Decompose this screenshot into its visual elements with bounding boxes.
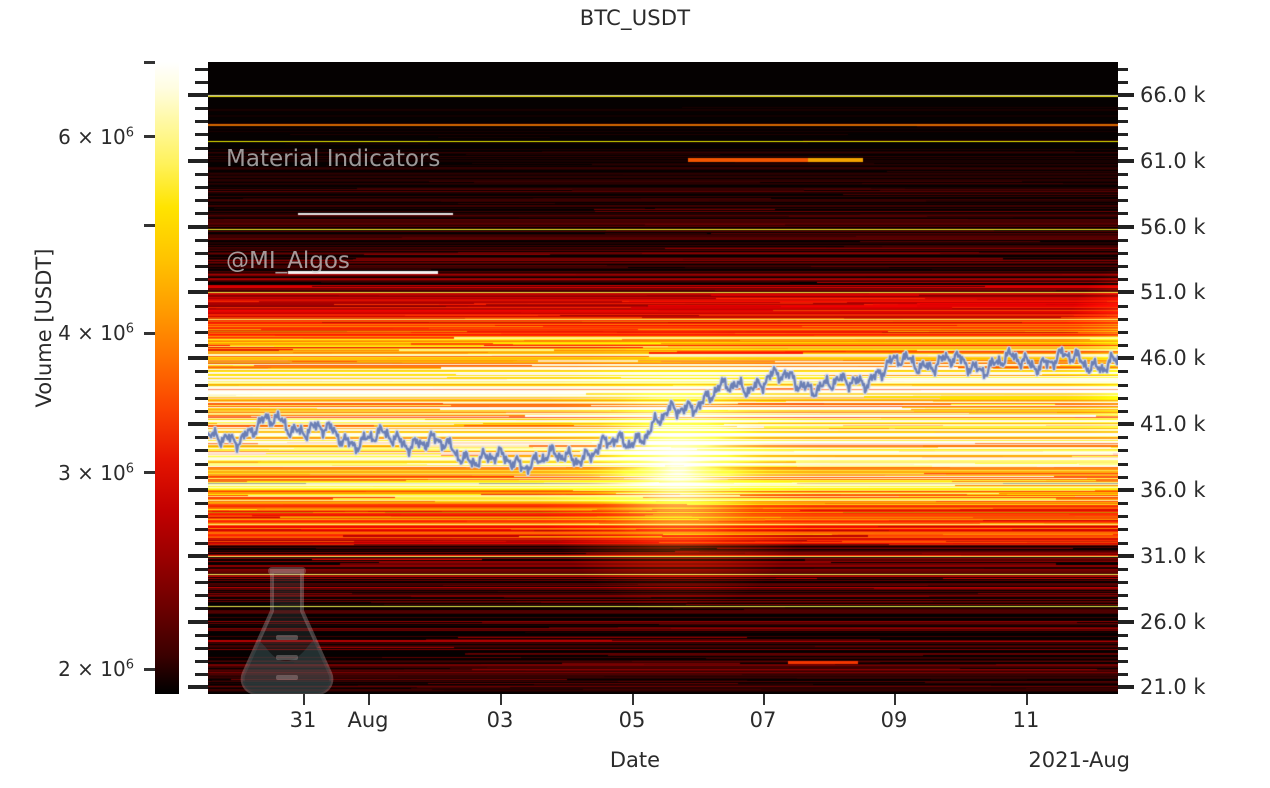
price-tick-minor-left xyxy=(195,647,208,650)
colorbar-ticks xyxy=(141,62,155,694)
price-tick-minor xyxy=(1118,463,1128,466)
volume-tick-label: 6 × 106 xyxy=(58,125,134,149)
price-tick-major-left xyxy=(188,422,208,426)
price-tick-major xyxy=(1118,93,1134,97)
price-tick-minor-left xyxy=(195,318,208,321)
date-tick-label: 09 xyxy=(881,708,908,732)
price-tick-label: 51.0 k xyxy=(1140,280,1206,304)
price-tick-major xyxy=(1118,225,1134,229)
price-tick-minor-left xyxy=(195,515,208,518)
price-tick-minor xyxy=(1118,239,1128,242)
price-tick-minor-left xyxy=(195,68,208,71)
price-tick-minor-left xyxy=(195,568,208,571)
price-tick-minor-left xyxy=(195,81,208,84)
price-tick-minor-left xyxy=(195,542,208,545)
price-tick-minor xyxy=(1118,199,1128,202)
price-tick-minor-left xyxy=(195,212,208,215)
price-tick-minor-left xyxy=(195,265,208,268)
price-tick-minor-left xyxy=(195,331,208,334)
date-tick xyxy=(368,694,370,705)
volume-tick-major xyxy=(144,332,155,335)
price-tick-minor-left xyxy=(195,370,208,373)
volume-tick-minor xyxy=(144,61,155,64)
price-tick-minor-left xyxy=(195,107,208,110)
price-tick-minor xyxy=(1118,107,1128,110)
price-tick-minor xyxy=(1118,515,1128,518)
price-tick-minor xyxy=(1118,120,1128,123)
price-tick-minor xyxy=(1118,384,1128,387)
price-tick-minor xyxy=(1118,147,1128,150)
price-tick-major xyxy=(1118,290,1134,294)
price-tick-minor xyxy=(1118,568,1128,571)
price-tick-major-left xyxy=(188,93,208,97)
date-tick xyxy=(500,694,502,705)
price-tick-minor xyxy=(1118,370,1128,373)
price-tick-minor-left xyxy=(195,673,208,676)
price-tick-major xyxy=(1118,159,1134,163)
price-tick-minor xyxy=(1118,331,1128,334)
price-tick-label: 31.0 k xyxy=(1140,544,1206,568)
price-tick-label: 26.0 k xyxy=(1140,610,1206,634)
price-tick-minor-left xyxy=(195,199,208,202)
price-tick-minor xyxy=(1118,68,1128,71)
price-axis-left-ticks xyxy=(186,62,208,694)
volume-tick-label: 4 × 106 xyxy=(58,321,134,345)
price-tick-minor xyxy=(1118,133,1128,136)
price-tick-minor-left xyxy=(195,607,208,610)
price-tick-minor-left xyxy=(195,305,208,308)
volume-tick-minor xyxy=(144,224,155,227)
volume-colorbar xyxy=(155,62,179,694)
price-tick-minor xyxy=(1118,647,1128,650)
price-tick-minor xyxy=(1118,212,1128,215)
price-tick-minor xyxy=(1118,252,1128,255)
price-axis-tick-labels: 66.0 k61.0 k56.0 k51.0 k46.0 k41.0 k36.0… xyxy=(1140,62,1260,694)
price-tick-minor-left xyxy=(195,476,208,479)
price-tick-minor-left xyxy=(195,463,208,466)
price-tick-minor-left xyxy=(195,502,208,505)
price-tick-major-left xyxy=(188,225,208,229)
price-tick-major xyxy=(1118,685,1134,689)
date-axis-ticks xyxy=(208,694,1118,706)
price-tick-minor-left xyxy=(195,634,208,637)
date-tick-label: 07 xyxy=(750,708,777,732)
chart-root: BTC_USDT 6 × 1064 × 1063 × 1062 × 106 Vo… xyxy=(0,0,1270,788)
date-tick xyxy=(894,694,896,705)
price-tick-minor-left xyxy=(195,594,208,597)
date-tick xyxy=(763,694,765,705)
page-title: BTC_USDT xyxy=(0,6,1270,30)
price-tick-minor-left xyxy=(195,239,208,242)
price-tick-minor-left xyxy=(195,410,208,413)
erlenmeyer-flask-logo xyxy=(232,563,342,694)
price-tick-label: 56.0 k xyxy=(1140,215,1206,239)
price-tick-minor-left xyxy=(195,186,208,189)
price-tick-minor xyxy=(1118,318,1128,321)
price-tick-minor xyxy=(1118,542,1128,545)
price-tick-minor xyxy=(1118,634,1128,637)
heatmap-canvas xyxy=(208,62,1118,694)
date-tick-label: Aug xyxy=(347,708,388,732)
price-tick-minor xyxy=(1118,344,1128,347)
price-tick-major-left xyxy=(188,356,208,360)
price-tick-minor xyxy=(1118,673,1128,676)
price-tick-minor xyxy=(1118,265,1128,268)
price-tick-label: 61.0 k xyxy=(1140,149,1206,173)
price-tick-minor-left xyxy=(195,528,208,531)
price-tick-major-left xyxy=(188,159,208,163)
date-tick-label: 05 xyxy=(619,708,646,732)
price-tick-label: 41.0 k xyxy=(1140,412,1206,436)
price-tick-minor-left xyxy=(195,147,208,150)
price-tick-major-left xyxy=(188,290,208,294)
volume-tick-label: 2 × 106 xyxy=(58,657,134,681)
price-tick-minor-left xyxy=(195,449,208,452)
price-tick-minor-left xyxy=(195,173,208,176)
price-tick-minor xyxy=(1118,173,1128,176)
price-tick-minor xyxy=(1118,305,1128,308)
price-tick-minor xyxy=(1118,594,1128,597)
price-tick-minor-left xyxy=(195,278,208,281)
price-axis-right-ticks xyxy=(1118,62,1136,694)
price-tick-minor-left xyxy=(195,120,208,123)
colorbar-axis-label: Volume [USDT] xyxy=(32,248,56,408)
date-tick xyxy=(303,694,305,705)
date-axis-offset-label: 2021-Aug xyxy=(1028,748,1130,772)
price-tick-minor-left xyxy=(195,344,208,347)
date-tick-label: 11 xyxy=(1013,708,1040,732)
price-tick-minor-left xyxy=(195,660,208,663)
price-tick-minor xyxy=(1118,397,1128,400)
price-tick-minor xyxy=(1118,581,1128,584)
date-tick xyxy=(632,694,634,705)
date-tick-label: 03 xyxy=(487,708,514,732)
price-tick-major-left xyxy=(188,488,208,492)
date-tick xyxy=(1026,694,1028,705)
price-tick-minor xyxy=(1118,436,1128,439)
liquidity-heatmap[interactable]: Material Indicators @MI_Algos xyxy=(208,62,1118,694)
price-tick-minor xyxy=(1118,607,1128,610)
colorbar-tick-labels: 6 × 1064 × 1063 × 1062 × 106 xyxy=(0,62,138,694)
price-tick-minor-left xyxy=(195,133,208,136)
price-tick-label: 46.0 k xyxy=(1140,346,1206,370)
volume-tick-label: 3 × 106 xyxy=(58,461,134,485)
price-tick-major-left xyxy=(188,554,208,558)
price-tick-minor xyxy=(1118,410,1128,413)
price-tick-major xyxy=(1118,422,1134,426)
price-tick-major-left xyxy=(188,620,208,624)
volume-tick-major xyxy=(144,668,155,671)
date-tick-label: 31 xyxy=(290,708,317,732)
price-tick-label: 66.0 k xyxy=(1140,83,1206,107)
price-tick-minor xyxy=(1118,528,1128,531)
price-tick-major xyxy=(1118,356,1134,360)
date-axis-tick-labels: 31Aug0305070911 xyxy=(0,708,1270,738)
volume-tick-major xyxy=(144,471,155,474)
price-tick-label: 36.0 k xyxy=(1140,478,1206,502)
price-tick-major-left xyxy=(188,685,208,689)
price-tick-minor-left xyxy=(195,252,208,255)
volume-tick-major xyxy=(144,135,155,138)
price-tick-major xyxy=(1118,620,1134,624)
price-tick-minor xyxy=(1118,476,1128,479)
price-tick-minor xyxy=(1118,278,1128,281)
price-tick-minor-left xyxy=(195,397,208,400)
price-tick-minor-left xyxy=(195,581,208,584)
price-tick-minor-left xyxy=(195,384,208,387)
price-tick-minor xyxy=(1118,502,1128,505)
price-tick-label: 21.0 k xyxy=(1140,675,1206,699)
price-tick-minor-left xyxy=(195,436,208,439)
price-tick-major xyxy=(1118,554,1134,558)
price-tick-major xyxy=(1118,488,1134,492)
price-tick-minor xyxy=(1118,449,1128,452)
price-tick-minor xyxy=(1118,186,1128,189)
price-tick-minor xyxy=(1118,660,1128,663)
price-tick-minor xyxy=(1118,81,1128,84)
